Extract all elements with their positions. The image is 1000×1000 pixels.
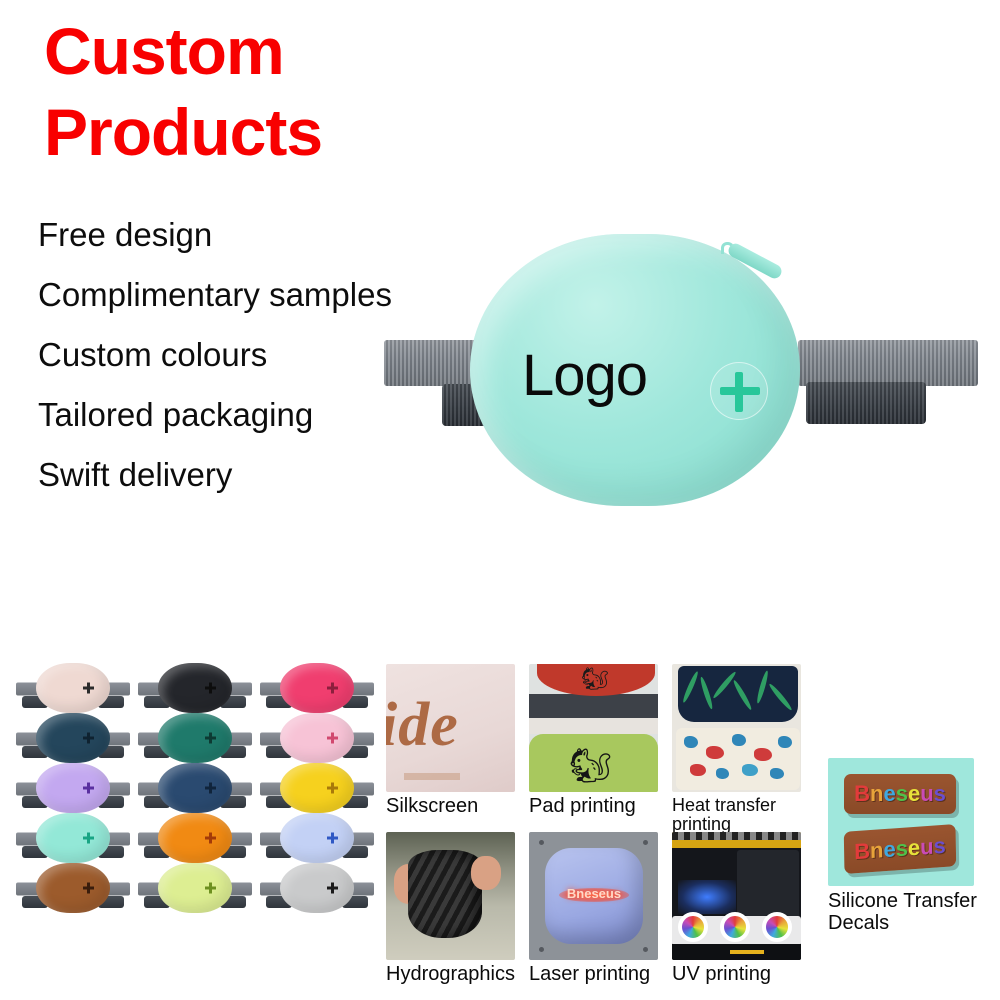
- squirrel-icon-small: 🐿: [581, 666, 609, 692]
- decal-text: Bneseus: [854, 833, 946, 865]
- hydrographics-sample-image: [386, 832, 515, 960]
- color-variant-dark-teal[interactable]: [14, 714, 132, 762]
- decals-label: Silicone Transfer Decals: [828, 891, 992, 934]
- color-variant-light-pink[interactable]: [258, 714, 376, 762]
- machine-plate: [529, 718, 658, 734]
- zipper-pull-icon: [726, 241, 784, 281]
- silicone-transfer-decals: Bneseus Bneseus Silicone Transfer Decals: [828, 758, 992, 934]
- silkscreen-script-text: ide: [386, 690, 459, 761]
- headline-line-1: Custom: [44, 18, 464, 85]
- bag-body: [158, 663, 232, 713]
- bag-body: [158, 863, 232, 913]
- bag-body: Logo: [470, 234, 800, 506]
- decal-text: Bneseus: [854, 781, 946, 807]
- printer-accent-bar: [730, 950, 764, 954]
- plus-icon: [205, 683, 216, 694]
- bag-body: [36, 863, 110, 913]
- color-variant-blush-pink[interactable]: [14, 664, 132, 712]
- printed-disc: [720, 912, 750, 942]
- plus-icon: [83, 733, 94, 744]
- bag-logo-text: Logo: [522, 342, 647, 409]
- color-variant-lavender[interactable]: [14, 764, 132, 812]
- bag-body: [280, 863, 354, 913]
- color-variant-green-teal[interactable]: [136, 714, 254, 762]
- color-variant-navy-blue[interactable]: [136, 764, 254, 812]
- method-label: Silkscreen: [386, 796, 522, 817]
- method-label: UV printing: [672, 964, 808, 985]
- method-silkscreen: ide Silkscreen: [386, 664, 525, 832]
- decal-patch: Bneseus: [844, 824, 956, 874]
- machine-body: [529, 694, 658, 720]
- color-variant-grid: [14, 664, 376, 912]
- plus-icon: [327, 733, 338, 744]
- heat-transfer-sample-image: [672, 664, 801, 792]
- method-pad-printing: 🐿 🐿 Pad printing: [529, 664, 668, 832]
- squirrel-icon: 🐿: [569, 746, 612, 786]
- uv-printing-sample-image: [672, 832, 801, 960]
- bag-body: [280, 713, 354, 763]
- plus-icon: [205, 883, 216, 894]
- strap-tail-right: [806, 382, 926, 424]
- decal-patch: Bneseus: [844, 774, 956, 814]
- plus-icon: [327, 883, 338, 894]
- printed-band: [676, 728, 800, 790]
- plus-icon: [327, 683, 338, 694]
- bag-body: [36, 763, 110, 813]
- printing-method-grid: ide Silkscreen 🐿 🐿 Pad printing: [386, 664, 818, 1000]
- carbon-fiber-part: [408, 850, 482, 938]
- printed-disc: [678, 912, 708, 942]
- method-heat-transfer: Heat transfer printing: [672, 664, 811, 832]
- bag-body: [36, 663, 110, 713]
- method-label: Pad printing: [529, 796, 665, 817]
- laser-engraved-text: Bneseus: [561, 886, 627, 901]
- page-title: Custom Products: [44, 18, 464, 167]
- color-variant-brown[interactable]: [14, 864, 132, 912]
- strap-right: [798, 340, 978, 386]
- method-hydrographics: Hydrographics: [386, 832, 525, 1000]
- plus-icon: [83, 833, 94, 844]
- bag-body: [280, 813, 354, 863]
- color-variant-light-grey[interactable]: [258, 864, 376, 912]
- printed-disc: [762, 912, 792, 942]
- color-variant-orange[interactable]: [136, 814, 254, 862]
- hero-product-image: Logo: [378, 222, 978, 522]
- method-label: Heat transfer printing: [672, 796, 808, 834]
- color-variant-mint[interactable]: [14, 814, 132, 862]
- plus-icon: [710, 362, 768, 420]
- decals-sample-image: Bneseus Bneseus: [828, 758, 974, 886]
- color-variant-black[interactable]: [136, 664, 254, 712]
- bag-body: [36, 813, 110, 863]
- plus-icon: [83, 783, 94, 794]
- plus-icon: [205, 833, 216, 844]
- pad-printing-sample-image: 🐿 🐿: [529, 664, 658, 792]
- bag-body: [158, 763, 232, 813]
- bag-body: [158, 813, 232, 863]
- hand-icon: [471, 856, 501, 890]
- color-variant-yellow[interactable]: [258, 764, 376, 812]
- method-label: Hydrographics: [386, 964, 522, 985]
- plus-icon: [83, 683, 94, 694]
- bag-body: [280, 663, 354, 713]
- uv-light-glow: [678, 880, 736, 914]
- silkscreen-sample-image: ide: [386, 664, 515, 792]
- method-laser-printing: Bneseus Laser printing: [529, 832, 668, 1000]
- method-uv-printing: UV printing: [672, 832, 811, 1000]
- color-variant-periwinkle[interactable]: [258, 814, 376, 862]
- method-label: Laser printing: [529, 964, 665, 985]
- printer-rail-top: [672, 832, 801, 840]
- bag-body: [280, 763, 354, 813]
- laser-printing-sample-image: Bneseus: [529, 832, 658, 960]
- bag-body: [36, 713, 110, 763]
- silkscreen-accent: [404, 773, 460, 780]
- product-marketing-image: Custom Products Free design Complimentar…: [0, 0, 1000, 1000]
- color-variant-rose-red[interactable]: [258, 664, 376, 712]
- plus-icon: [205, 733, 216, 744]
- plus-icon: [83, 883, 94, 894]
- bag-body: [158, 713, 232, 763]
- headline-line-2: Products: [44, 99, 464, 166]
- plus-icon: [327, 833, 338, 844]
- plus-icon: [205, 783, 216, 794]
- printed-cuff: [678, 666, 798, 722]
- color-variant-lime-yellow[interactable]: [136, 864, 254, 912]
- plus-icon: [327, 783, 338, 794]
